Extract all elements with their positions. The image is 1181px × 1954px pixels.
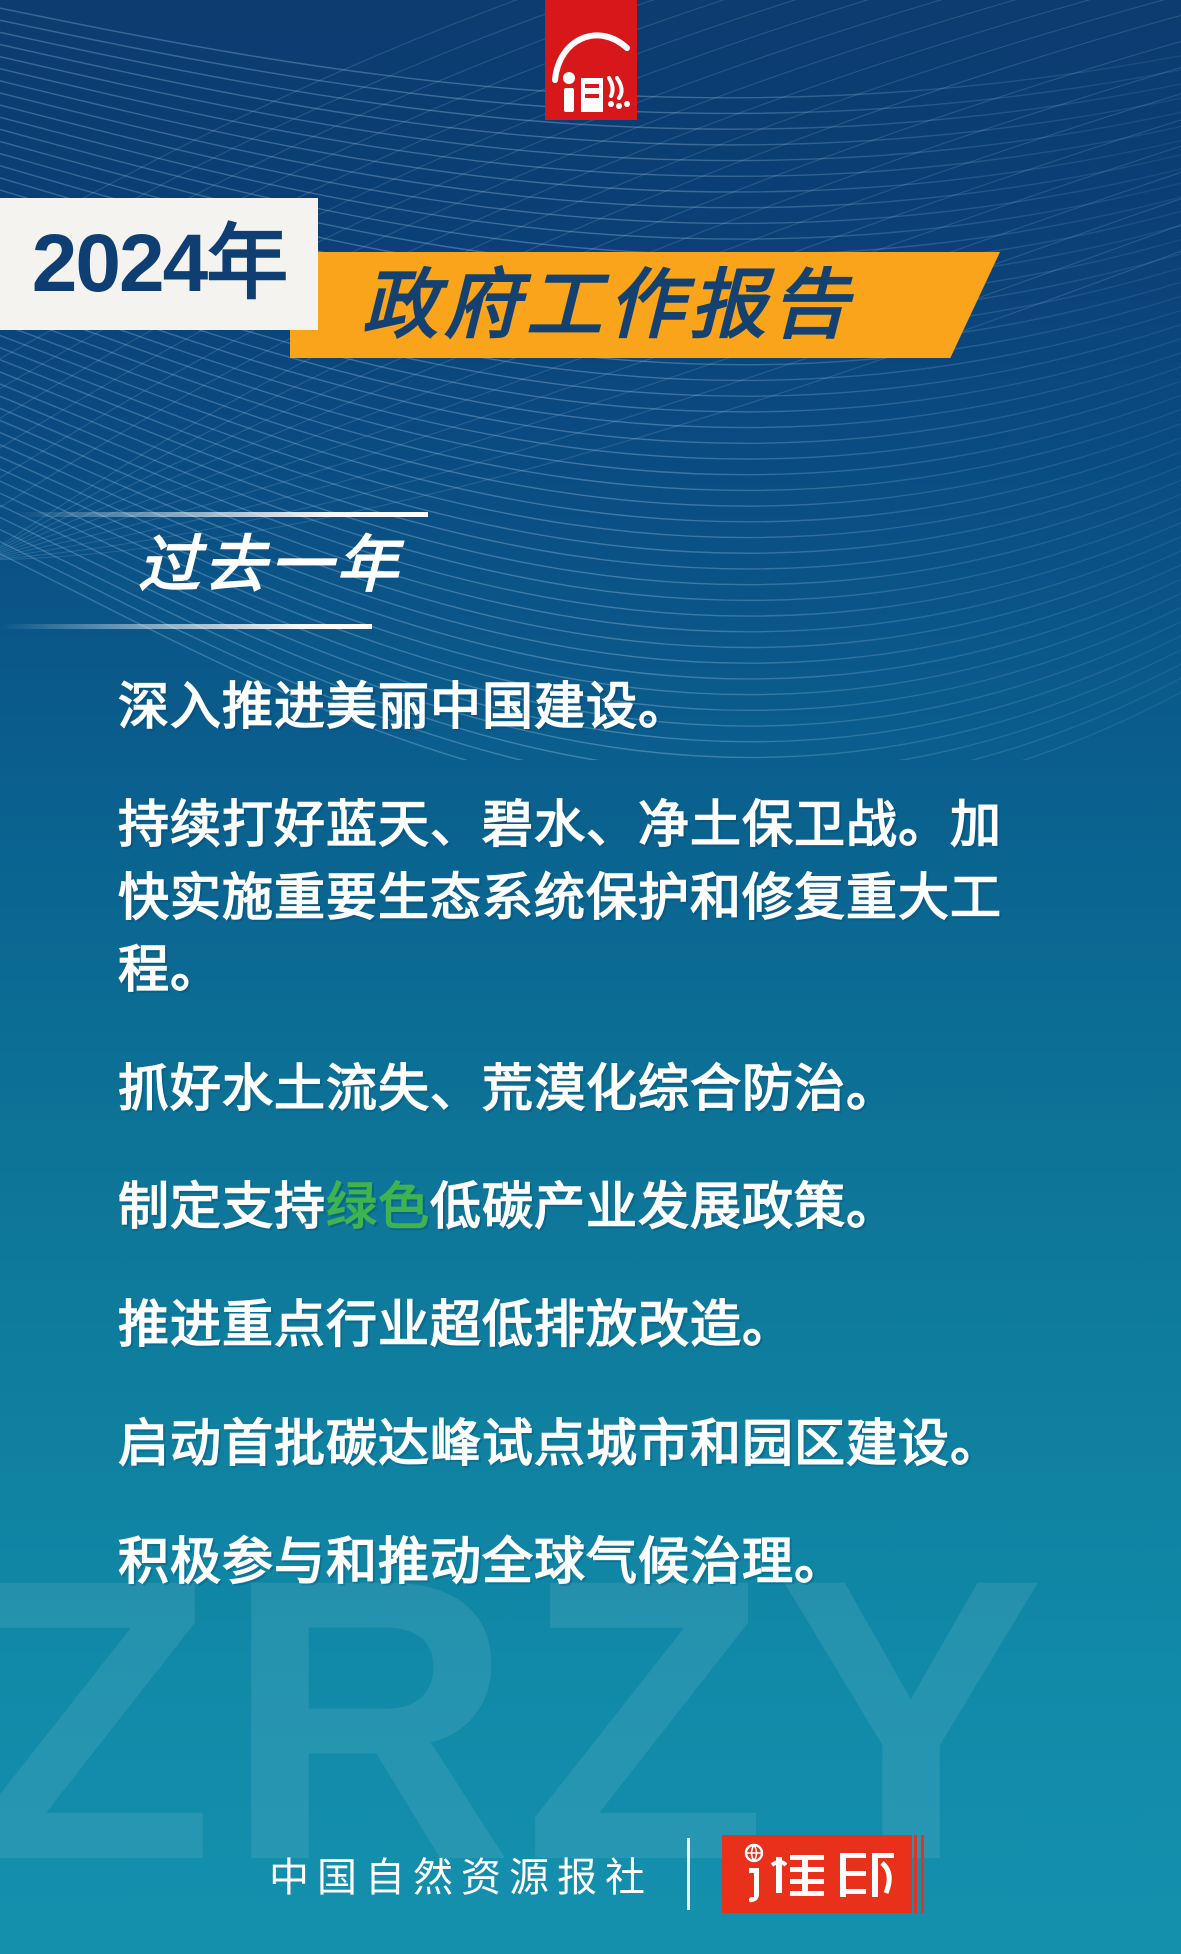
i-haibao-logo (722, 1835, 912, 1913)
year-label: 2024年 (32, 223, 286, 305)
green-highlight: 绿色 (326, 1178, 430, 1237)
paragraph-suffix: 低碳产业发展政策。 (430, 1178, 898, 1237)
body-paragraph: 启动首批碳达峰试点城市和园区建设。 (118, 1409, 1053, 1481)
section-rule-top (18, 512, 428, 517)
section-header: 过去一年 (0, 512, 1181, 632)
section-title: 过去一年 (138, 534, 402, 596)
footer-divider (687, 1838, 690, 1910)
paragraph-prefix: 制定支持 (118, 1178, 326, 1237)
body-paragraph: 深入推进美丽中国建设。 (118, 672, 1053, 744)
body-paragraph: 推进重点行业超低排放改造。 (118, 1290, 1053, 1362)
body-content: 深入推进美丽中国建设。 持续打好蓝天、碧水、净土保卫战。加快实施重要生态系统保护… (118, 672, 1118, 1600)
body-paragraph: 抓好水土流失、荒漠化综合防治。 (118, 1054, 1053, 1126)
poster-footer: 中国自然资源报社 (0, 1794, 1181, 1954)
body-paragraph-with-highlight: 制定支持绿色低碳产业发展政策。 (118, 1172, 1053, 1244)
brand-logo-i-ziran (545, 0, 637, 120)
headline-band: 政府工作报告 2024年 (0, 198, 1181, 358)
poster-canvas: ZRZY 政府工作报告 2024年 过去一年 深入推进美丽中国建设 (0, 0, 1181, 1954)
report-title: 政府工作报告 (362, 267, 854, 343)
title-ribbon: 政府工作报告 (290, 252, 1000, 358)
body-paragraph: 积极参与和推动全球气候治理。 (118, 1527, 1053, 1599)
body-paragraph: 持续打好蓝天、碧水、净土保卫战。加快实施重要生态系统保护和修复重大工程。 (118, 790, 1053, 1007)
section-rule-bottom (0, 624, 372, 629)
publisher-name: 中国自然资源报社 (269, 1845, 687, 1903)
year-badge: 2024年 (0, 198, 318, 330)
logo-stripes (914, 1835, 928, 1913)
